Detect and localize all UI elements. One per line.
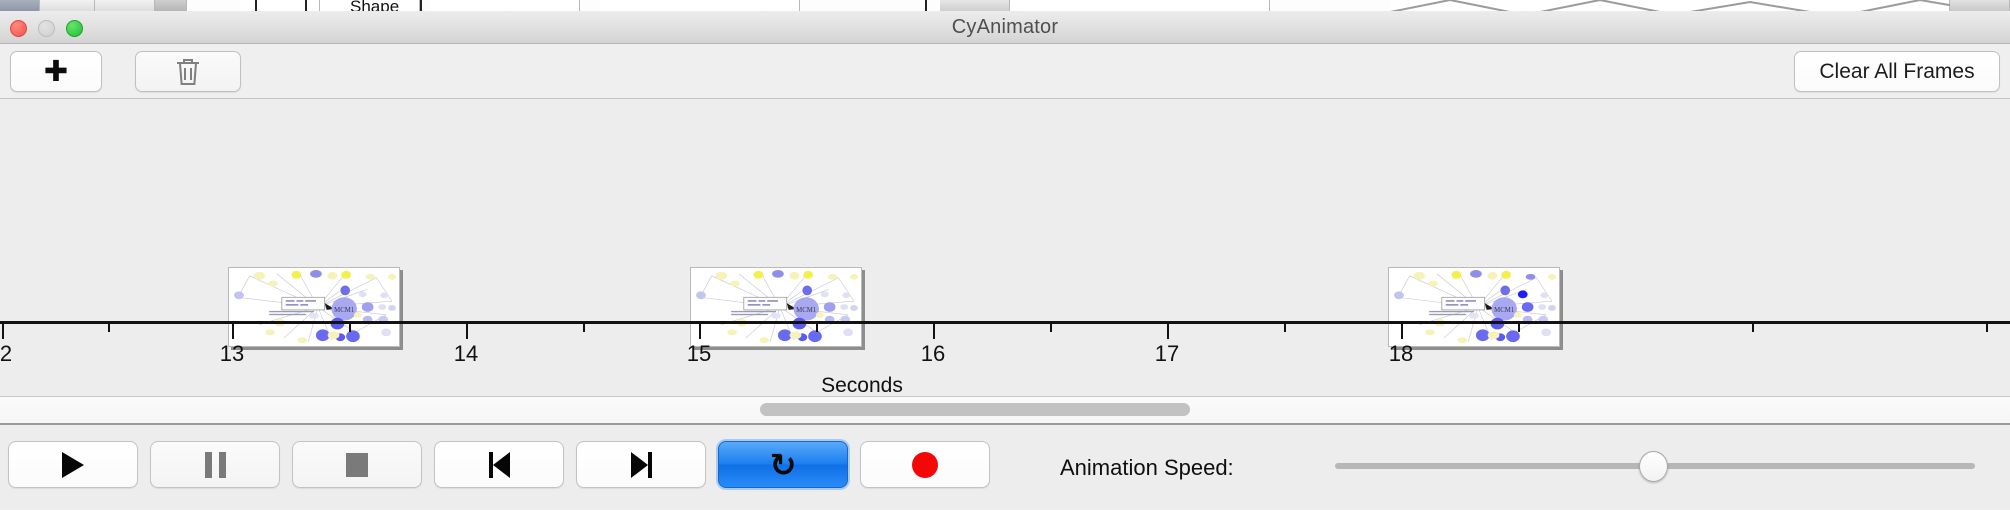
axis-tick-label: 15	[687, 341, 711, 367]
animation-speed-thumb[interactable]	[1639, 451, 1668, 482]
axis-title: Seconds	[0, 374, 1867, 397]
axis-tick-major	[232, 324, 234, 339]
timeline-frame[interactable]: MCM1	[1388, 267, 1560, 347]
network-thumbnail: MCM1	[229, 268, 399, 346]
toolbar: ✚ Clear All Frames	[0, 44, 2010, 99]
record-icon	[912, 452, 938, 478]
axis-tick-label: 17	[1155, 341, 1179, 367]
axis-tick-major	[466, 324, 468, 339]
timeline-frame[interactable]: MCM1	[690, 267, 862, 347]
skip-to-end-button[interactable]	[576, 441, 706, 488]
axis-tick-label: 18	[1389, 341, 1413, 367]
cyanimator-window: CyAnimator ✚ Clear All Frames	[0, 11, 2010, 510]
timeline-frame[interactable]: MCM1	[228, 267, 400, 347]
skip-to-start-button[interactable]	[434, 441, 564, 488]
svg-text:MCM1: MCM1	[796, 307, 816, 314]
svg-text:MCM1: MCM1	[1494, 307, 1514, 314]
stop-button[interactable]	[292, 441, 422, 488]
loop-icon: ↻	[770, 449, 797, 481]
skip-backward-icon	[489, 452, 510, 478]
axis-tick-minor	[108, 324, 110, 332]
axis-tick-major	[1167, 324, 1169, 339]
trash-icon	[175, 57, 201, 87]
axis-tick-minor	[583, 324, 585, 332]
svg-text:MCM1: MCM1	[334, 307, 354, 314]
skip-forward-icon	[631, 452, 652, 478]
plus-icon: ✚	[44, 57, 68, 86]
axis-tick-major	[1401, 324, 1403, 339]
network-thumbnail: MCM1	[691, 268, 861, 346]
title-bar[interactable]: CyAnimator	[0, 11, 2010, 44]
axis-tick-label: 16	[921, 341, 945, 367]
add-frame-button[interactable]: ✚	[10, 51, 102, 92]
loop-button[interactable]: ↻	[718, 441, 848, 488]
timeline-axis	[0, 321, 2010, 324]
axis-tick-major	[699, 324, 701, 339]
timeline-panel[interactable]: MCM1	[0, 99, 2010, 397]
axis-tick-minor	[1284, 324, 1286, 332]
axis-tick-minor	[349, 324, 351, 332]
pause-icon	[205, 452, 226, 478]
axis-tick-minor	[1518, 324, 1520, 332]
axis-tick-minor	[1986, 324, 1988, 332]
axis-tick-minor	[1752, 324, 1754, 332]
clear-all-frames-button[interactable]: Clear All Frames	[1794, 51, 2000, 92]
axis-tick-major	[933, 324, 935, 339]
animation-speed-label: Animation Speed:	[1060, 455, 1234, 481]
transport-bar: ↻ Animation Speed:	[0, 425, 2010, 507]
scrollbar-thumb[interactable]	[760, 403, 1190, 416]
window-title: CyAnimator	[0, 16, 2010, 39]
axis-tick-minor	[816, 324, 818, 332]
axis-tick-major	[2, 324, 4, 339]
play-icon	[62, 452, 84, 478]
axis-tick-label: 13	[220, 341, 244, 367]
network-thumbnail: MCM1	[1389, 268, 1559, 346]
pause-button[interactable]	[150, 441, 280, 488]
play-button[interactable]	[8, 441, 138, 488]
axis-tick-minor	[1050, 324, 1052, 332]
stop-icon	[346, 453, 368, 477]
timeline-scrollbar[interactable]	[0, 397, 2010, 425]
delete-frame-button[interactable]	[135, 51, 241, 92]
record-button[interactable]	[860, 441, 990, 488]
axis-tick-label: 14	[454, 341, 478, 367]
axis-tick-label: 2	[0, 341, 12, 367]
